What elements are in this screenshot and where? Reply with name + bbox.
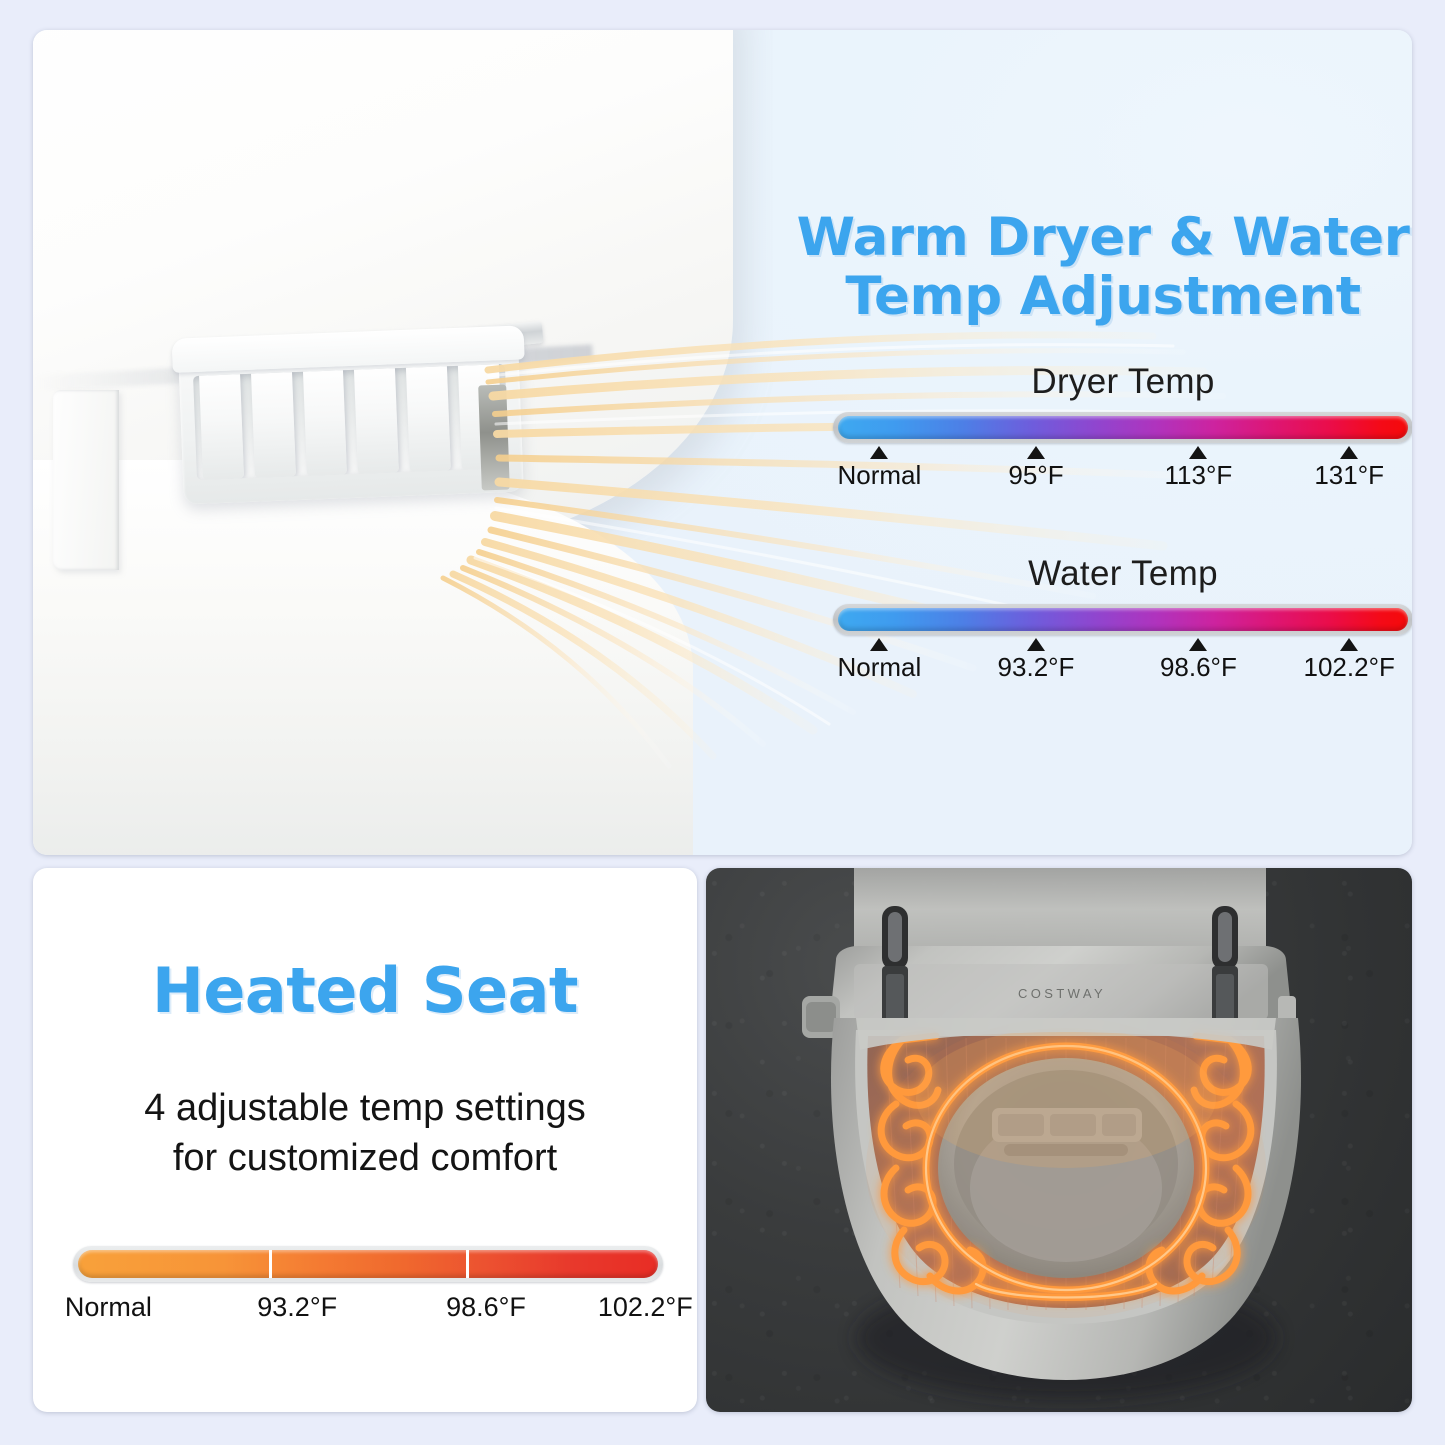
dryer-temp-scale: Dryer Temp Normal 95°F 113°F: [833, 362, 1412, 498]
water-tick-label: 93.2°F: [998, 652, 1075, 682]
dryer-tick-1: 95°F: [961, 446, 1111, 491]
triangle-marker-icon: [1340, 638, 1358, 651]
seat-tick-label: Normal: [65, 1292, 152, 1322]
dryer-tick-label: 95°F: [1008, 460, 1063, 490]
dryer-closeup-photo: [33, 30, 773, 855]
dryer-temp-ticks: Normal 95°F 113°F 131°F: [833, 446, 1412, 498]
water-tick-label: 98.6°F: [1160, 652, 1237, 682]
dryer-vent-grille: [193, 364, 509, 480]
dryer-tick-2: 113°F: [1123, 446, 1273, 491]
toilet-bowl-lip: [33, 460, 693, 855]
vent-fin: [303, 366, 348, 475]
water-tick-3: 102.2°F: [1274, 638, 1412, 683]
heated-seat-subtitle-line-2: for customized comfort: [33, 1133, 697, 1183]
side-panel-plate: [53, 390, 119, 570]
dryer-tick-0: Normal: [804, 446, 954, 491]
water-temp-gradient-fill: [838, 608, 1408, 631]
seat-tick-label: 93.2°F: [257, 1292, 337, 1322]
costway-logo-text: COSTWAY: [1018, 986, 1106, 1001]
headline-warm-dryer-water-temp: Warm Dryer & Water Temp Adjustment: [793, 208, 1412, 327]
seat-tick-3: 102.2°F: [570, 1292, 697, 1323]
dryer-temp-title: Dryer Temp: [833, 362, 1412, 402]
water-temp-title: Water Temp: [833, 554, 1412, 594]
seat-hinge-left: [882, 906, 908, 1034]
water-tick-label: 102.2°F: [1304, 652, 1395, 682]
heated-seat-scale: Normal 93.2°F 98.6°F 102.2°F: [73, 1246, 663, 1338]
triangle-marker-icon: [1189, 638, 1207, 651]
top-panel-dryer-water-temp: Warm Dryer & Water Temp Adjustment Dryer…: [33, 30, 1412, 855]
water-tick-1: 93.2°F: [961, 638, 1111, 683]
heated-seat-subtitle-line-1: 4 adjustable temp settings: [33, 1083, 697, 1133]
seat-hinge-right: [1212, 906, 1238, 1034]
water-tick-2: 98.6°F: [1123, 638, 1273, 683]
headline-line-2: Temp Adjustment: [793, 267, 1412, 326]
water-tick-label: Normal: [837, 652, 921, 682]
triangle-marker-icon: [1027, 638, 1045, 651]
triangle-marker-icon: [870, 638, 888, 651]
toilet-heated-seat-photo: COSTWAY: [706, 868, 1412, 1412]
vent-fin: [354, 364, 399, 473]
heated-seat-segment-divider: [269, 1250, 272, 1278]
dryer-temp-gradient-fill: [838, 416, 1408, 439]
dryer-tick-3: 131°F: [1274, 446, 1412, 491]
vent-fin: [251, 368, 296, 477]
triangle-marker-icon: [1340, 446, 1358, 459]
headline-line-1: Warm Dryer & Water: [793, 208, 1412, 267]
triangle-marker-icon: [1027, 446, 1045, 459]
seat-tick-label: 102.2°F: [598, 1292, 693, 1322]
vent-fin: [199, 370, 244, 479]
heated-seat-slider-track[interactable]: [73, 1246, 663, 1282]
water-temp-ticks: Normal 93.2°F 98.6°F 102.2°F: [833, 638, 1412, 690]
triangle-marker-icon: [1189, 446, 1207, 459]
dryer-tick-label: Normal: [837, 460, 921, 490]
dryer-vent-housing: [178, 342, 524, 505]
water-temp-slider-track[interactable]: [833, 604, 1412, 635]
water-temp-scale: Water Temp Normal 93.2°F 98.6°F: [833, 554, 1412, 690]
dryer-tick-label: 113°F: [1165, 460, 1233, 490]
infographic-page: Warm Dryer & Water Temp Adjustment Dryer…: [0, 0, 1445, 1445]
heated-seat-segment-divider: [466, 1250, 469, 1278]
water-tick-0: Normal: [804, 638, 954, 683]
dryer-temp-slider-track[interactable]: [833, 412, 1412, 443]
vent-fin: [406, 364, 451, 472]
heated-seat-subtitle: 4 adjustable temp settings for customize…: [33, 1083, 697, 1183]
bottom-left-panel-heated-seat: Heated Seat 4 adjustable temp settings f…: [33, 868, 697, 1412]
dryer-tick-label: 131°F: [1314, 460, 1384, 490]
dryer-vent-interior: [478, 385, 510, 491]
heated-seat-ticks: Normal 93.2°F 98.6°F 102.2°F: [73, 1292, 663, 1338]
bottom-right-panel-heated-seat-photo: COSTWAY: [706, 868, 1412, 1412]
seat-tick-1: 93.2°F: [222, 1292, 372, 1323]
seat-tick-2: 98.6°F: [411, 1292, 561, 1323]
triangle-marker-icon: [870, 446, 888, 459]
heated-seat-title: Heated Seat: [33, 954, 697, 1027]
seat-tick-0: Normal: [33, 1292, 183, 1323]
heated-seat-gradient-fill: [78, 1250, 658, 1278]
seat-tick-label: 98.6°F: [446, 1292, 526, 1322]
